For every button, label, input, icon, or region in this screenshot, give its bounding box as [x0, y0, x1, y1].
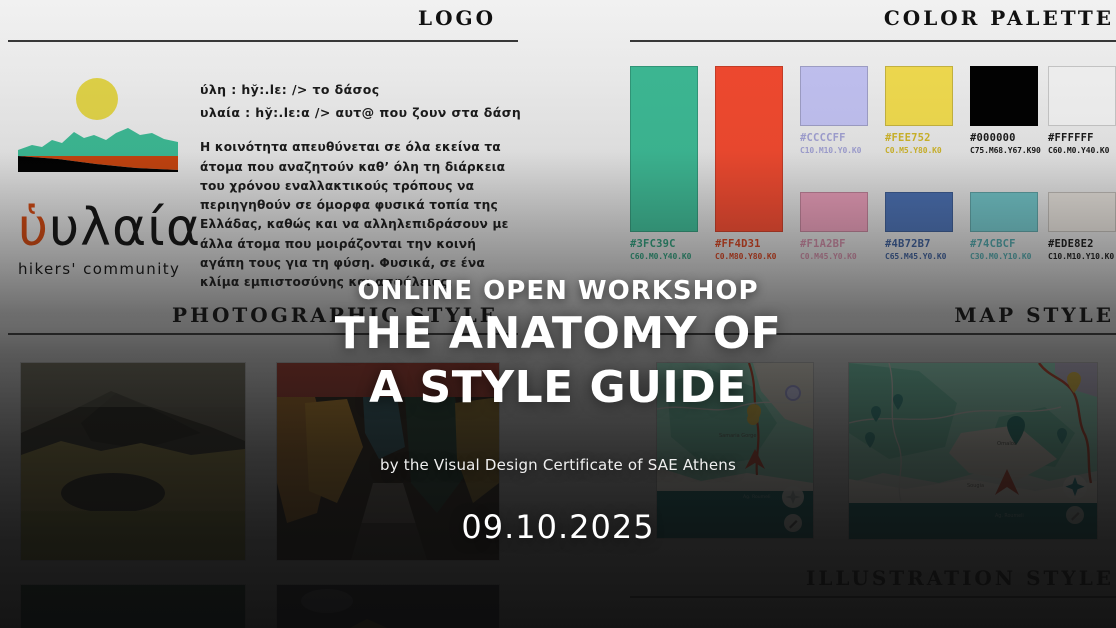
promo-overlay: ONLINE OPEN WORKSHOP THE ANATOMY OF A ST…: [0, 278, 1116, 546]
promo-date: 09.10.2025: [0, 508, 1116, 546]
style-guide-poster: LOGO ὑυλαία hikers' community ύλη : hў:.…: [0, 0, 1116, 628]
promo-kicker: ONLINE OPEN WORKSHOP: [0, 278, 1116, 305]
promo-headline-line1: THE ANATOMY OF: [0, 309, 1116, 358]
promo-byline: by the Visual Design Certificate of SAE …: [0, 456, 1116, 474]
promo-headline-line2: A STYLE GUIDE: [0, 363, 1116, 412]
